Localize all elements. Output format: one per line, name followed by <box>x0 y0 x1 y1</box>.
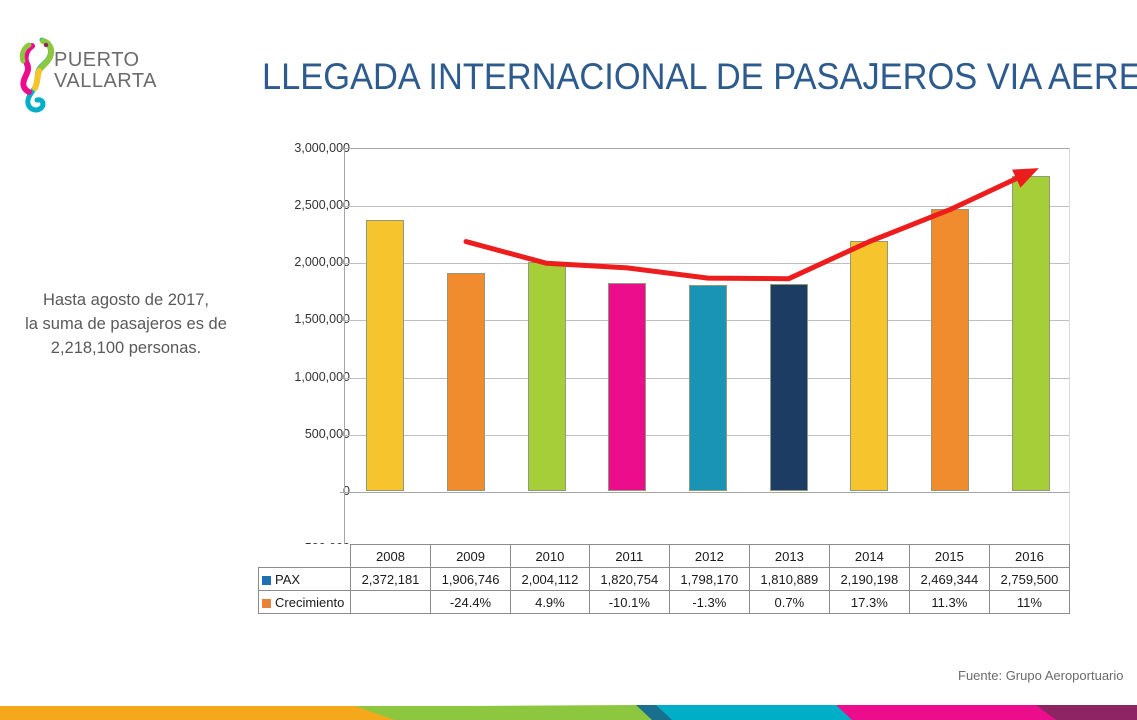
y-axis-label: 0 <box>270 485 350 497</box>
table-year-header: 2011 <box>589 545 669 568</box>
table-year-header: 2016 <box>989 545 1069 568</box>
data-table: 200820092010201120122013201420152016 PAX… <box>258 544 1070 614</box>
y-axis-label: 1,500,000 <box>270 313 350 325</box>
bar-2012[interactable] <box>689 285 727 491</box>
bar-2016[interactable] <box>1012 176 1050 491</box>
table-cell <box>351 591 431 614</box>
summary-note: Hasta agosto de 2017, la suma de pasajer… <box>6 288 246 360</box>
plot-area <box>344 148 1070 548</box>
strip-segment-green <box>468 705 660 720</box>
strip-segment-yellow <box>0 706 400 720</box>
legend-pax: PAX <box>259 568 351 591</box>
brand-logo: PUERTO VALLARTA <box>8 36 208 116</box>
table-year-header: 2008 <box>351 545 431 568</box>
bottom-color-strip <box>0 700 1137 720</box>
table-cell: 4.9% <box>511 591 590 614</box>
chart: 3,000,0002,500,0002,000,0001,500,0001,00… <box>258 148 1076 613</box>
legend-swatch-icon <box>262 576 271 585</box>
y-axis-label: 3,000,000 <box>270 142 350 154</box>
table-cell: 1,820,754 <box>589 568 669 591</box>
bar-series <box>345 149 1069 548</box>
bar-2015[interactable] <box>931 209 969 491</box>
table-cell: 1,798,170 <box>669 568 749 591</box>
summary-note-line-2: la suma de pasajeros es de <box>6 312 246 336</box>
table-cell: 2,190,198 <box>829 568 909 591</box>
table-year-header: 2015 <box>909 545 989 568</box>
y-axis-label: 2,000,000 <box>270 256 350 268</box>
table-row: PAX2,372,1811,906,7462,004,1121,820,7541… <box>259 568 1070 591</box>
strip-segment-cyan <box>656 705 856 720</box>
table-cell: 2,759,500 <box>989 568 1069 591</box>
y-axis-label: 2,500,000 <box>270 199 350 211</box>
page-title: LLEGADA INTERNACIONAL DE PASAJEROS VIA A… <box>262 54 1080 100</box>
table-cell: 1,906,746 <box>431 568 511 591</box>
bar-2009[interactable] <box>447 273 485 491</box>
bar-2008[interactable] <box>366 220 404 491</box>
table-cell: 2,372,181 <box>351 568 431 591</box>
table-header-row: 200820092010201120122013201420152016 <box>259 545 1070 568</box>
bar-slot <box>506 149 587 548</box>
logo-wordmark: PUERTO VALLARTA <box>54 50 157 92</box>
bar-slot <box>426 149 507 548</box>
strip-segment-magenta <box>836 705 1060 720</box>
bar-slot <box>587 149 668 548</box>
bar-slot <box>990 149 1071 548</box>
source-note: Fuente: Grupo Aeroportuario <box>958 668 1124 683</box>
legend-swatch-icon <box>262 599 271 608</box>
table-cell: -10.1% <box>589 591 669 614</box>
table-cell: 11% <box>989 591 1069 614</box>
bar-slot <box>910 149 991 548</box>
bar-2011[interactable] <box>608 283 646 491</box>
y-axis-label: 1,000,000 <box>270 371 350 383</box>
legend-growth: Crecimiento <box>259 591 351 614</box>
table-cell: 1,810,889 <box>749 568 829 591</box>
bar-slot <box>668 149 749 548</box>
bar-slot <box>829 149 910 548</box>
bar-2010[interactable] <box>528 262 566 491</box>
table-cell: 2,469,344 <box>909 568 989 591</box>
table-year-header: 2013 <box>749 545 829 568</box>
seahorse-icon <box>12 36 58 114</box>
table-year-header: 2014 <box>829 545 909 568</box>
bar-2013[interactable] <box>770 284 808 491</box>
table-year-header: 2012 <box>669 545 749 568</box>
logo-line-2: VALLARTA <box>54 71 157 92</box>
table-year-header: 2009 <box>431 545 511 568</box>
table-cell: 17.3% <box>829 591 909 614</box>
summary-note-line-3: 2,218,100 personas. <box>6 336 246 360</box>
bar-slot <box>748 149 829 548</box>
table-cell: 11.3% <box>909 591 989 614</box>
table-body: PAX2,372,1811,906,7462,004,1121,820,7541… <box>259 568 1070 614</box>
table-cell: 0.7% <box>749 591 829 614</box>
logo-line-1: PUERTO <box>54 50 157 71</box>
table-row: Crecimiento-24.4%4.9%-10.1%-1.3%0.7%17.3… <box>259 591 1070 614</box>
table-cell: 2,004,112 <box>511 568 590 591</box>
table-corner <box>259 545 351 568</box>
bar-slot <box>345 149 426 548</box>
table-year-header: 2010 <box>511 545 590 568</box>
bar-2014[interactable] <box>850 241 888 491</box>
y-axis-label: 500,000 <box>270 428 350 440</box>
table-cell: -1.3% <box>669 591 749 614</box>
table-cell: -24.4% <box>431 591 511 614</box>
summary-note-line-1: Hasta agosto de 2017, <box>6 288 246 312</box>
